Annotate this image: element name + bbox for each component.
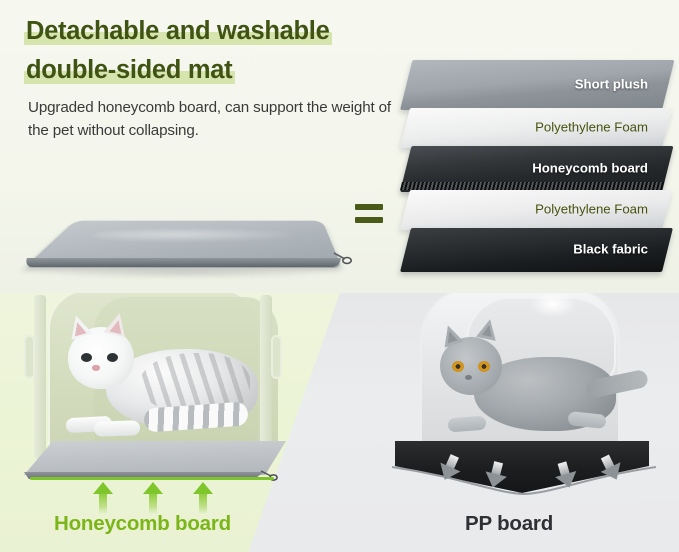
layer-label: Polyethylene Foam [535,201,648,216]
arrow-head [143,482,163,494]
cat-eye-right [478,361,490,372]
subtitle-text: Upgraded honeycomb board, can support th… [28,96,398,142]
cat-eye-left [81,353,92,362]
zipper-pull-icon [260,469,278,482]
mat-sheen [87,228,306,242]
infographic-page: Detachable and washable double-sided mat… [0,0,679,552]
mat-top-surface [24,441,286,475]
equals-bar-bottom [355,217,383,223]
arrow-head [93,482,113,494]
equals-bar-top [355,204,383,210]
cat-nose [465,375,472,380]
layer-polyethylene-foam-top: Polyethylene Foam [400,108,662,148]
support-arrow-up-1 [93,482,113,514]
cat-paw-rear [94,420,140,437]
cat-nose [92,365,100,371]
support-line-green [30,477,274,480]
cat-paw-front [448,416,487,433]
carrier-strap-left [24,335,35,379]
layer-label: Short plush [575,76,648,91]
cat-eye-left [452,361,464,372]
support-arrow-up-3 [193,482,213,514]
layer-black-fabric: Black fabric [400,228,662,272]
layer-stack-diagram: Short plush Polyethylene Foam Honeycomb … [400,60,676,276]
mat-shadow [34,268,334,278]
layer-label: Polyethylene Foam [535,119,648,134]
heading-block: Detachable and washable double-sided mat [26,14,406,87]
arrow-shaft [99,493,107,514]
layer-honeycomb-board: Honeycomb board [400,146,662,192]
support-arrow-up-2 [143,482,163,514]
top-section: Detachable and washable double-sided mat… [0,0,679,293]
heading-line-2-text: double-sided mat [26,56,232,84]
zipper-pull-icon [332,250,352,266]
layer-label: Black fabric [573,241,648,256]
layer-polyethylene-foam-bottom: Polyethylene Foam [400,190,662,230]
arrow-head [193,482,213,494]
heading-line-1-text: Detachable and washable [26,17,329,45]
right-caption-label: PP board [465,512,553,536]
heading-line-1: Detachable and washable [26,14,329,48]
heading-line-2: double-sided mat [26,53,232,87]
equals-sign [355,202,383,228]
honeycomb-ribs-texture [400,182,664,190]
mat-product-photo [8,188,356,284]
arrow-shaft [149,493,157,514]
carrier-strap-right [271,335,282,379]
white-cat-photo [44,313,264,453]
mat-edge [25,258,341,267]
layer-label: Honeycomb board [532,160,648,175]
arrow-shaft [199,493,207,514]
cat-eye-right [107,353,118,362]
left-caption-label: Honeycomb board [54,512,231,536]
layer-short-plush: Short plush [400,60,662,110]
